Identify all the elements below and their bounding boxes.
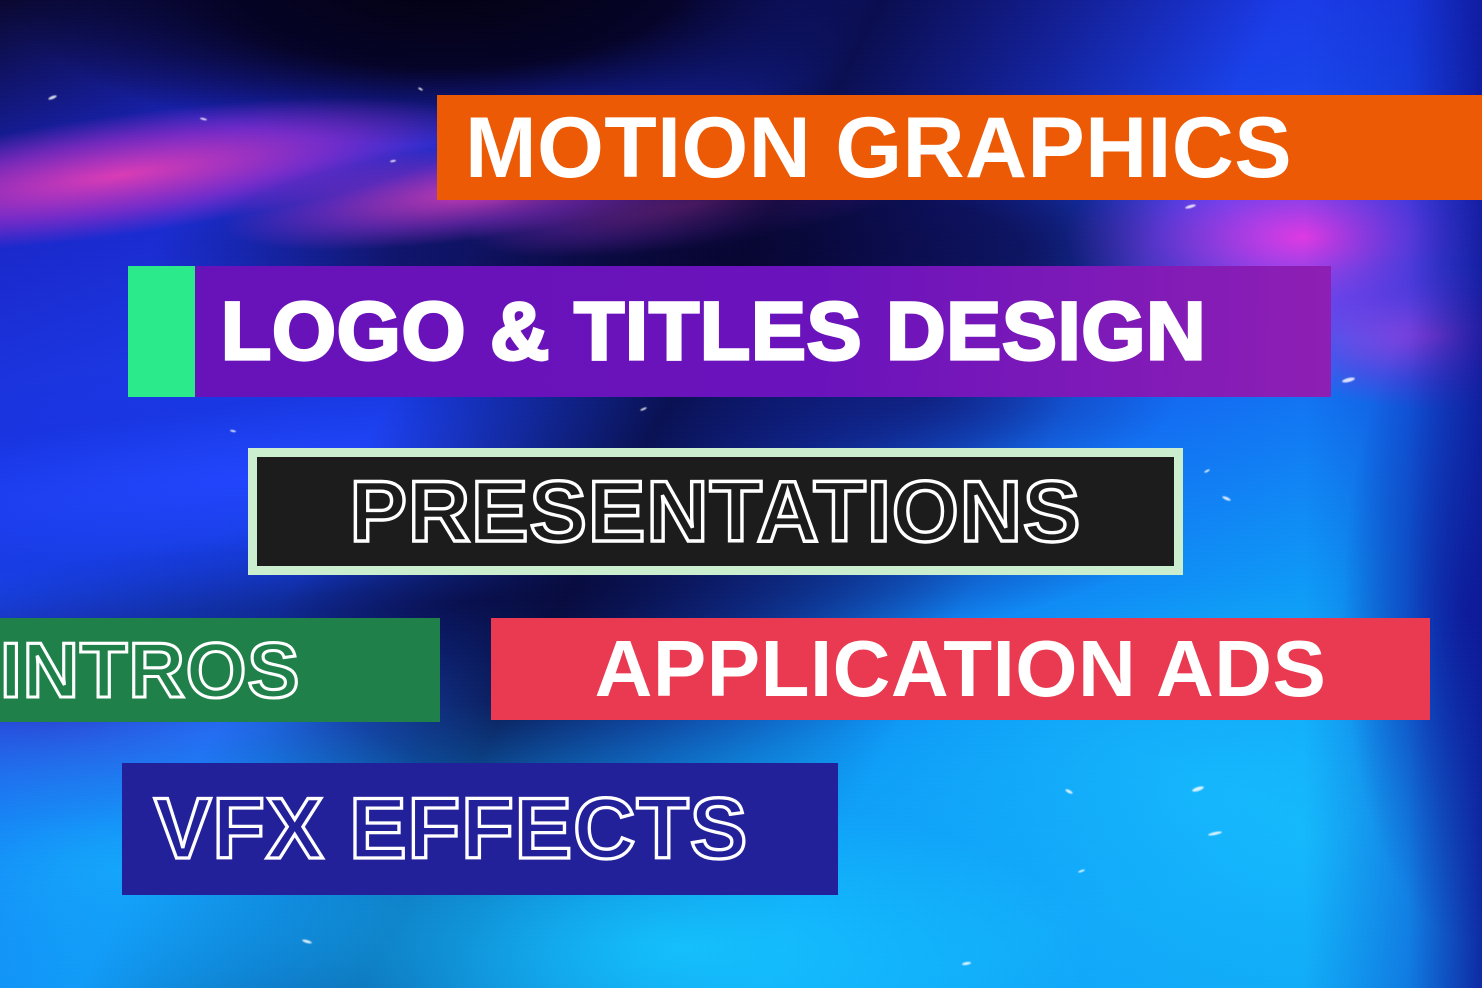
sparkle-15: [962, 961, 971, 966]
service-bar-presentations[interactable]: PRESENTATIONS: [248, 448, 1183, 575]
service-bar-vfx-effects[interactable]: VFX EFFECTS: [122, 763, 838, 895]
sparkle-13: [1078, 869, 1085, 873]
sparkle-11: [1208, 831, 1222, 837]
sparkle-0: [48, 94, 57, 100]
sparkle-17: [640, 407, 647, 412]
service-label-intros: INTROS: [0, 631, 300, 709]
sparkle-9: [1204, 469, 1210, 474]
sparkle-16: [230, 429, 236, 432]
service-label-logo-titles-design: LOGO & TITLES DESIGN: [221, 291, 1207, 373]
service-label-presentations: PRESENTATIONS: [350, 469, 1082, 555]
service-bar-motion-graphics[interactable]: MOTION GRAPHICS: [437, 95, 1482, 200]
service-label-vfx-effects: VFX EFFECTS: [154, 786, 748, 872]
service-bar-logo-titles-body: LOGO & TITLES DESIGN: [195, 266, 1331, 397]
service-label-motion-graphics: MOTION GRAPHICS: [465, 105, 1292, 191]
service-bar-presentations-inner: PRESENTATIONS: [257, 457, 1174, 566]
sparkle-10: [1192, 785, 1205, 793]
sparkle-14: [302, 939, 312, 945]
accent-block-green: [128, 266, 195, 397]
sparkle-7: [1342, 376, 1356, 383]
sparkle-5: [1185, 204, 1196, 210]
service-bar-intros[interactable]: INTROS: [0, 618, 440, 722]
sparkle-8: [1222, 495, 1231, 501]
service-bar-application-ads[interactable]: APPLICATION ADS: [491, 618, 1430, 720]
sparkle-12: [1065, 788, 1073, 794]
service-label-application-ads: APPLICATION ADS: [595, 629, 1327, 709]
banner-canvas: MOTION GRAPHICS LOGO & TITLES DESIGN PRE…: [0, 0, 1482, 988]
service-bar-logo-titles-design[interactable]: LOGO & TITLES DESIGN: [128, 266, 1331, 397]
sparkle-1: [200, 117, 207, 121]
sparkle-2: [390, 159, 396, 162]
sparkle-3: [418, 87, 423, 91]
